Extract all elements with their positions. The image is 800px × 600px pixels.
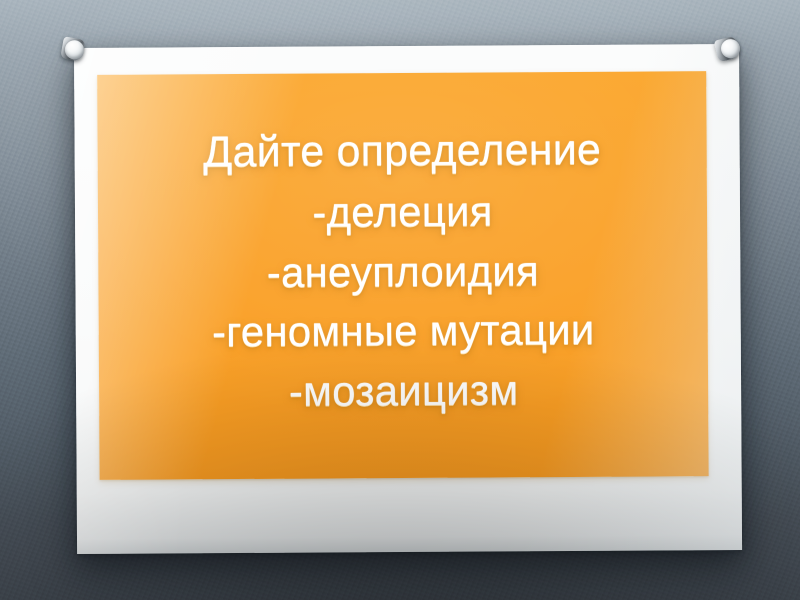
slide-text-block: Дайте определение -делеция -анеуплоидия …	[97, 119, 708, 422]
slide-line-mosaicism: -мозаицизм	[99, 359, 708, 422]
poster-frame: Дайте определение -делеция -анеуплоидия …	[74, 44, 742, 554]
slide-line-title: Дайте определение	[97, 119, 706, 184]
slide-line-deletion: -делеция	[98, 180, 707, 243]
slide-line-aneuploidy: -анеуплоидия	[98, 240, 707, 303]
slide-line-genomic-mutations: -геномные мутации	[99, 299, 708, 362]
orange-content-panel: Дайте определение -делеция -анеуплоидия …	[97, 71, 708, 480]
slide-stage: Дайте определение -делеция -анеуплоидия …	[0, 0, 800, 600]
